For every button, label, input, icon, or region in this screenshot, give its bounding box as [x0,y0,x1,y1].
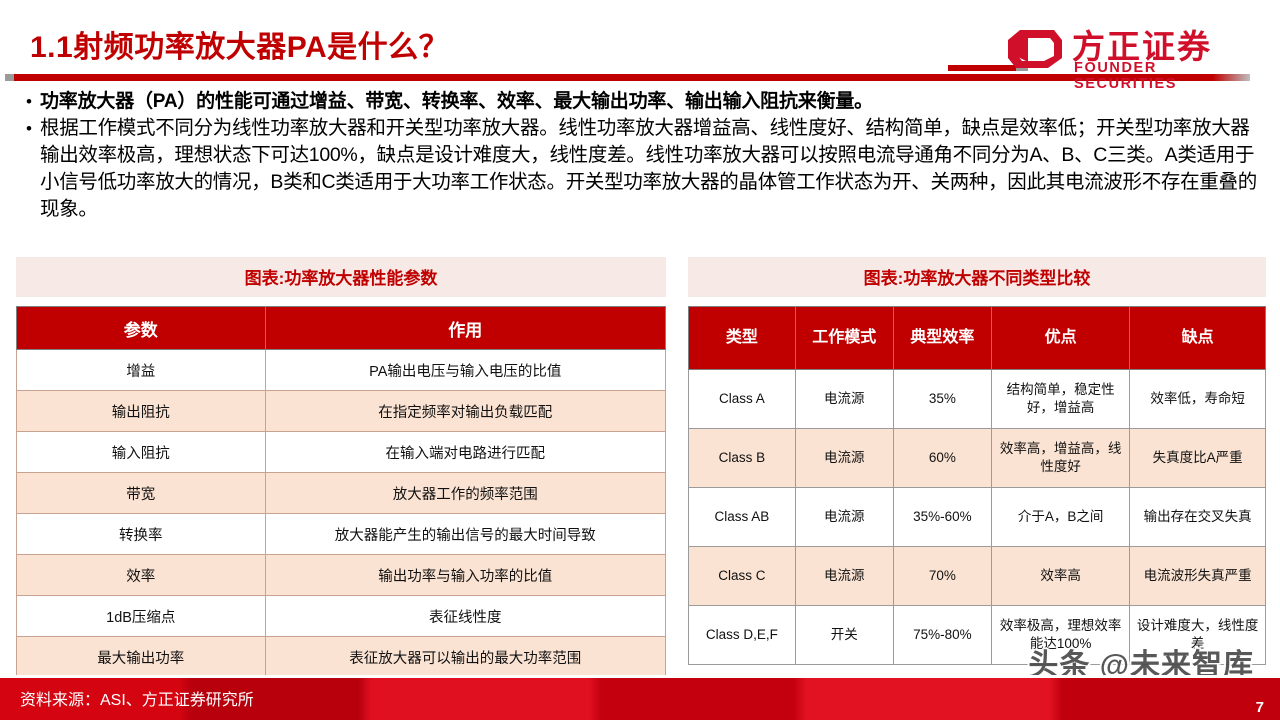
cell-type: Class C [689,547,796,606]
cell-pros: 结构简单，稳定性好，增益高 [991,370,1129,429]
cell-cons: 电流波形失真严重 [1130,547,1266,606]
cell-efficiency: 70% [893,547,991,606]
cell-mode: 开关 [795,606,893,665]
table-row: 带宽 放大器工作的频率范围 [17,473,666,514]
cell-function: 在输入端对电路进行匹配 [265,432,665,473]
cell-type: Class B [689,429,796,488]
cell-parameter: 带宽 [17,473,266,514]
cell-efficiency: 60% [893,429,991,488]
table-header-row: 参数 作用 [17,307,666,350]
column-header-parameter: 参数 [17,307,266,350]
table-row: Class AB 电流源 35%-60% 介于A，B之间 输出存在交叉失真 [689,488,1266,547]
cell-mode: 电流源 [795,547,893,606]
table-row: Class B 电流源 60% 效率高，增益高，线性度好 失真度比A严重 [689,429,1266,488]
cell-type: Class AB [689,488,796,547]
slide: 1.1射频功率放大器PA是什么？ 方正证券 FOUNDER SECURITIES… [0,0,1280,720]
table-row: 最大输出功率 表征放大器可以输出的最大功率范围 [17,637,666,678]
page-number: 7 [1256,699,1264,716]
column-header-function: 作用 [265,307,665,350]
cell-function: 表征放大器可以输出的最大功率范围 [265,637,665,678]
cell-parameter: 效率 [17,555,266,596]
cell-efficiency: 35% [893,370,991,429]
cell-pros: 介于A，B之间 [991,488,1129,547]
column-header-mode: 工作模式 [795,307,893,370]
cell-mode: 电流源 [795,429,893,488]
cell-mode: 电流源 [795,370,893,429]
table-row: 输入阻抗 在输入端对电路进行匹配 [17,432,666,473]
cell-type: Class D,E,F [689,606,796,665]
bullet-marker-icon: • [18,115,40,142]
cell-function: 放大器能产生的输出信号的最大时间导致 [265,514,665,555]
cell-cons: 失真度比A严重 [1130,429,1266,488]
pa-class-comparison-table: 类型 工作模式 典型效率 优点 缺点 Class A 电流源 35% 结构简单，… [688,306,1266,665]
cell-function: 放大器工作的频率范围 [265,473,665,514]
cell-pros: 效率高 [991,547,1129,606]
cell-type: Class A [689,370,796,429]
table-row: 转换率 放大器能产生的输出信号的最大时间导致 [17,514,666,555]
cell-efficiency: 75%-80% [893,606,991,665]
left-table-caption: 图表:功率放大器性能参数 [16,257,666,297]
table-header-row: 类型 工作模式 典型效率 优点 缺点 [689,307,1266,370]
cell-parameter: 转换率 [17,514,266,555]
cell-function: 表征线性度 [265,596,665,637]
bullet-text: 根据工作模式不同分为线性功率放大器和开关型功率放大器。线性功率放大器增益高、线性… [40,115,1266,223]
table-row: 1dB压缩点 表征线性度 [17,596,666,637]
cell-function: PA输出电压与输入电压的比值 [265,350,665,391]
footer-bar: 资料来源：ASI、方正证券研究所 7 [0,678,1280,720]
bullet-item: • 根据工作模式不同分为线性功率放大器和开关型功率放大器。线性功率放大器增益高、… [18,115,1266,223]
column-header-efficiency: 典型效率 [893,307,991,370]
column-header-pros: 优点 [991,307,1129,370]
bullet-item: • 功率放大器（PA）的性能可通过增益、带宽、转换率、效率、最大输出功率、输出输… [18,88,1266,115]
cell-function: 在指定频率对输出负载匹配 [265,391,665,432]
table-row: Class C 电流源 70% 效率高 电流波形失真严重 [689,547,1266,606]
column-header-type: 类型 [689,307,796,370]
cell-function: 输出功率与输入功率的比值 [265,555,665,596]
cell-parameter: 增益 [17,350,266,391]
bullet-marker-icon: • [18,88,40,115]
table-row: 增益 PA输出电压与输入电压的比值 [17,350,666,391]
page-title: 1.1射频功率放大器PA是什么？ [30,22,449,66]
source-note: 资料来源：ASI、方正证券研究所 [20,686,254,710]
bullet-text: 功率放大器（PA）的性能可通过增益、带宽、转换率、效率、最大输出功率、输出输入阻… [40,88,1266,115]
right-chart-panel: 图表:功率放大器不同类型比较 类型 工作模式 典型效率 优点 缺点 Class … [688,257,1266,665]
cell-mode: 电流源 [795,488,893,547]
company-logo: 方正证券 FOUNDER SECURITIES [1006,18,1256,80]
right-table-caption: 图表:功率放大器不同类型比较 [688,257,1266,297]
table-row: Class A 电流源 35% 结构简单，稳定性好，增益高 效率低，寿命短 [689,370,1266,429]
founder-diamond-icon [1006,28,1062,70]
cell-pros: 效率高，增益高，线性度好 [991,429,1129,488]
left-chart-panel: 图表:功率放大器性能参数 参数 作用 增益 PA输出电压与输入电压的比值 输出阻… [16,257,666,678]
cell-parameter: 最大输出功率 [17,637,266,678]
performance-parameters-table: 参数 作用 增益 PA输出电压与输入电压的比值 输出阻抗 在指定频率对输出负载匹… [16,306,666,678]
cell-efficiency: 35%-60% [893,488,991,547]
table-row: 输出阻抗 在指定频率对输出负载匹配 [17,391,666,432]
cell-parameter: 输出阻抗 [17,391,266,432]
cell-parameter: 1dB压缩点 [17,596,266,637]
table-row: 效率 输出功率与输入功率的比值 [17,555,666,596]
column-header-cons: 缺点 [1130,307,1266,370]
cell-parameter: 输入阻抗 [17,432,266,473]
bullet-list: • 功率放大器（PA）的性能可通过增益、带宽、转换率、效率、最大输出功率、输出输… [18,88,1266,223]
cell-cons: 效率低，寿命短 [1130,370,1266,429]
cell-cons: 输出存在交叉失真 [1130,488,1266,547]
